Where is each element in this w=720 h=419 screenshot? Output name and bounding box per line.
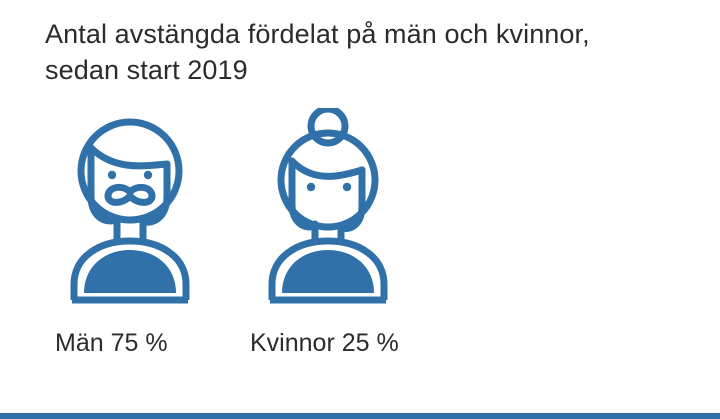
- label-group: Män 75 % Kvinnor 25 %: [0, 326, 720, 370]
- shoulder-fill: [84, 250, 176, 293]
- figure-group: [0, 108, 720, 308]
- label-male: Män 75 %: [55, 326, 168, 360]
- label-female: Kvinnor 25 %: [250, 326, 399, 360]
- eye-left-icon: [108, 171, 116, 179]
- eye-right-icon: [144, 171, 152, 179]
- eye-right-icon: [343, 183, 351, 191]
- woman-with-bun-icon: [258, 108, 398, 308]
- hair-swoop: [91, 148, 167, 166]
- infographic-page: Antal avstängda fördelat på män och kvin…: [0, 0, 720, 419]
- man-with-mustache-icon: [60, 108, 200, 308]
- jaw-left: [292, 204, 315, 227]
- hair-swoop: [292, 161, 362, 176]
- shoulder-fill: [282, 250, 374, 293]
- mustache-icon: [108, 187, 152, 202]
- bottom-accent-bar: [0, 413, 720, 419]
- figure-female: [258, 108, 398, 308]
- eye-left-icon: [307, 183, 315, 191]
- figure-male: [60, 108, 200, 308]
- page-title: Antal avstängda fördelat på män och kvin…: [45, 16, 665, 88]
